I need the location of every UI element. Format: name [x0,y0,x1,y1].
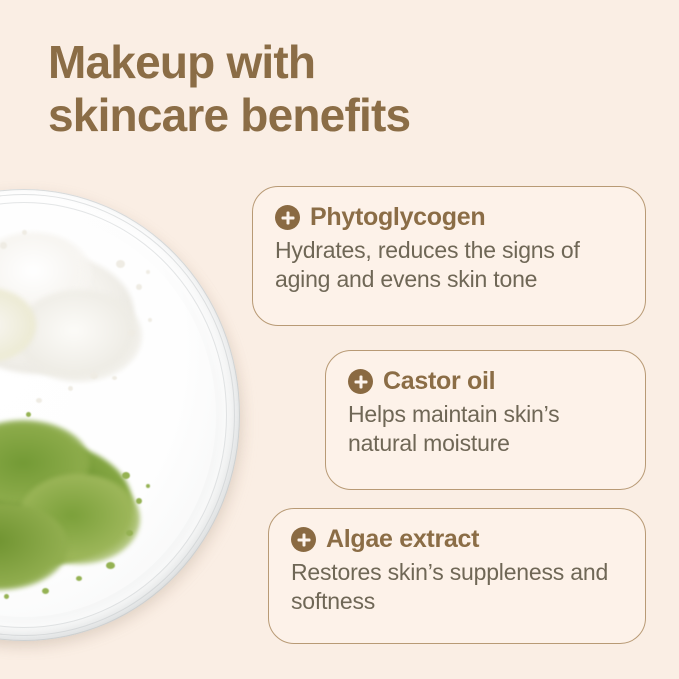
benefit-card-header: Phytoglycogen [275,203,623,232]
plus-badge-icon [348,369,373,394]
green-powder-pile [0,412,180,612]
page-title: Makeup with skincare benefits [48,36,608,143]
benefit-card-title: Algae extract [326,525,479,554]
benefit-card-header: Algae extract [291,525,623,554]
benefit-card-title: Castor oil [383,367,495,396]
promo-graphic: Makeup with skincare benefits Phytoglyco… [0,0,679,679]
benefit-card-phytoglycogen: Phytoglycogen Hydrates, reduces the sign… [252,186,646,326]
benefit-card-title: Phytoglycogen [310,203,485,232]
page-title-line-2: skincare benefits [48,89,608,142]
page-title-line-1: Makeup with [48,36,608,89]
benefit-card-algae-extract: Algae extract Restores skin’s suppleness… [268,508,646,644]
plus-badge-icon [291,527,316,552]
benefit-card-header: Castor oil [348,367,623,396]
benefit-card-body: Hydrates, reduces the signs of aging and… [275,236,623,295]
plus-badge-icon [275,205,300,230]
benefit-card-body: Restores skin’s suppleness and softness [291,558,623,617]
benefit-card-castor-oil: Castor oil Helps maintain skin’s natural… [325,350,646,490]
benefit-card-body: Helps maintain skin’s natural moisture [348,400,623,459]
white-powder-pile [0,226,190,414]
